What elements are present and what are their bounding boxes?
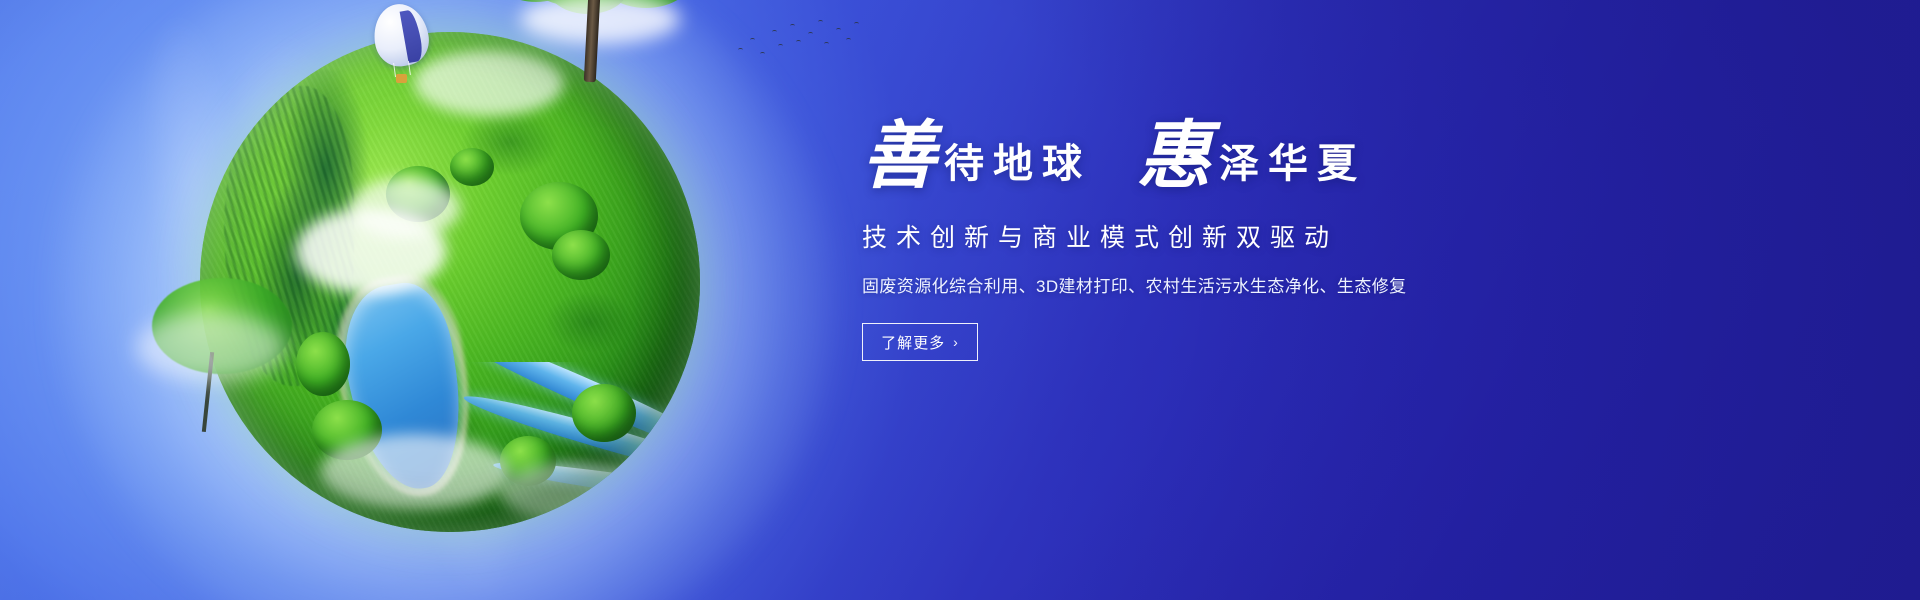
- chevron-right-icon: ›: [953, 335, 959, 349]
- headline-char-shan: 善: [862, 120, 938, 196]
- headline-text-daidiqiu: 待地球: [938, 144, 1091, 196]
- hero-subtitle: 技术创新与商业模式创新双驱动: [862, 218, 1582, 254]
- hero-description: 固废资源化综合利用、3D建材打印、农村生活污水生态净化、生态修复: [862, 272, 1582, 297]
- learn-more-label: 了解更多: [881, 332, 945, 353]
- learn-more-button[interactable]: 了解更多 ›: [862, 323, 978, 361]
- headline-text-zehuaxia: 泽华夏: [1213, 144, 1366, 196]
- hero-text-block: 善 待地球 惠 泽华夏 技术创新与商业模式创新双驱动 固废资源化综合利用、3D建…: [862, 120, 1582, 361]
- headline-char-hui: 惠: [1137, 120, 1213, 196]
- headline: 善 待地球 惠 泽华夏: [862, 120, 1582, 196]
- hero-banner: 善 待地球 惠 泽华夏 技术创新与商业模式创新双驱动 固废资源化综合利用、3D建…: [0, 0, 1920, 600]
